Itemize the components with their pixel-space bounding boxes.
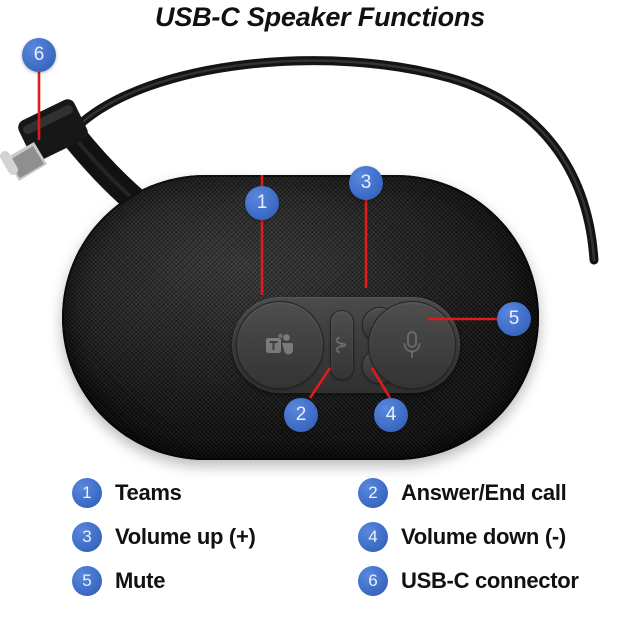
legend-number: 1	[82, 483, 91, 503]
callout-leader-lines	[0, 30, 640, 470]
legend-badge: 5	[72, 566, 102, 596]
legend-badge: 4	[358, 522, 388, 552]
callout-number: 3	[361, 172, 372, 194]
callout-badge-3[interactable]: 3	[349, 166, 383, 200]
legend-number: 4	[368, 527, 377, 547]
legend-item-volume-up: 3 Volume up (+)	[72, 520, 256, 554]
legend-number: 3	[82, 527, 91, 547]
legend-label: Volume down (-)	[401, 524, 566, 550]
callout-badge-5[interactable]: 5	[497, 302, 531, 336]
legend-label: Answer/End call	[401, 480, 566, 506]
callout-number: 4	[386, 404, 397, 426]
legend-item-mute: 5 Mute	[72, 564, 165, 598]
legend-label: USB-C connector	[401, 568, 579, 594]
legend: 1 Teams 2 Answer/End call 3 Volume up (+…	[0, 470, 640, 618]
callout-badge-4[interactable]: 4	[374, 398, 408, 432]
device-diagram: 1 2 3 4 5 6	[0, 30, 640, 470]
legend-badge: 3	[72, 522, 102, 552]
legend-label: Volume up (+)	[115, 524, 256, 550]
page-title: USB-C Speaker Functions	[0, 2, 640, 33]
legend-badge: 2	[358, 478, 388, 508]
legend-badge: 1	[72, 478, 102, 508]
callout-badge-2[interactable]: 2	[284, 398, 318, 432]
callout-number: 2	[296, 404, 307, 426]
legend-item-teams: 1 Teams	[72, 476, 182, 510]
legend-number: 6	[368, 571, 377, 591]
legend-number: 5	[82, 571, 91, 591]
callout-number: 6	[34, 44, 45, 66]
legend-number: 2	[368, 483, 377, 503]
callout-number: 1	[257, 192, 268, 214]
callout-badge-1[interactable]: 1	[245, 186, 279, 220]
legend-item-volume-down: 4 Volume down (-)	[358, 520, 566, 554]
legend-label: Teams	[115, 480, 182, 506]
legend-badge: 6	[358, 566, 388, 596]
legend-label: Mute	[115, 568, 165, 594]
legend-item-usb-c-connector: 6 USB-C connector	[358, 564, 579, 598]
callout-badge-6[interactable]: 6	[22, 38, 56, 72]
callout-number: 5	[509, 308, 520, 330]
legend-item-answer-end-call: 2 Answer/End call	[358, 476, 566, 510]
